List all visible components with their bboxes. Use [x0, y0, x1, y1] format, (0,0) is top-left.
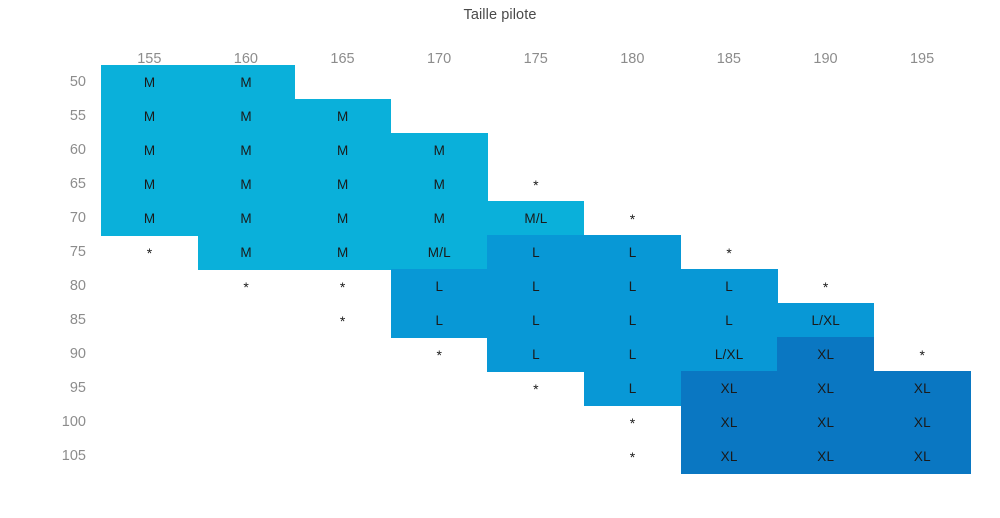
heatmap-cell[interactable]: * — [294, 269, 391, 304]
heatmap-cell[interactable]: * — [198, 269, 295, 304]
cell-value-label: M — [240, 178, 251, 192]
cell-asterisk: * — [630, 450, 636, 464]
heatmap-cell[interactable]: * — [584, 439, 681, 474]
heatmap-cell[interactable]: M — [294, 133, 391, 168]
cell-value-label: M — [337, 246, 348, 260]
heatmap-cell[interactable]: M — [198, 167, 295, 202]
cell-value-label: M/L — [524, 212, 547, 226]
heatmap-cell[interactable]: XL — [874, 439, 971, 474]
cell-value-label: L — [629, 348, 637, 362]
heatmap-cell[interactable]: M — [198, 99, 295, 134]
heatmap-cell[interactable]: M — [294, 167, 391, 202]
cell-asterisk: * — [920, 348, 926, 362]
cell-value-label: L/XL — [715, 348, 744, 362]
cell-value-label: XL — [817, 382, 834, 396]
cell-value-label: XL — [721, 450, 738, 464]
cell-asterisk: * — [340, 314, 346, 328]
cell-value-label: M — [337, 110, 348, 124]
cell-asterisk: * — [823, 280, 829, 294]
heatmap-cell[interactable]: XL — [681, 439, 778, 474]
cell-value-label: M — [240, 76, 251, 90]
cell-asterisk: * — [630, 416, 636, 430]
heatmap-cell[interactable]: XL — [777, 405, 874, 440]
cell-value-label: L — [532, 280, 540, 294]
heatmap-cell[interactable]: L — [681, 303, 778, 338]
heatmap-cell[interactable]: XL — [777, 337, 874, 372]
heatmap-cell[interactable]: * — [874, 337, 971, 372]
heatmap-cell[interactable]: L — [584, 235, 681, 270]
cell-value-label: M — [144, 144, 155, 158]
cell-value-label: L — [629, 280, 637, 294]
heatmap-cell[interactable]: M — [101, 201, 198, 236]
heatmap-cell[interactable]: M/L — [391, 235, 488, 270]
heatmap-cell[interactable]: M — [101, 65, 198, 100]
heatmap-cell[interactable]: XL — [681, 405, 778, 440]
cell-value-label: XL — [817, 450, 834, 464]
cell-value-label: M — [144, 178, 155, 192]
cell-value-label: M — [240, 212, 251, 226]
cell-value-label: L/XL — [811, 314, 840, 328]
heatmap-cell[interactable]: * — [681, 235, 778, 270]
heatmap-cell[interactable]: * — [294, 303, 391, 338]
cell-value-label: L — [725, 280, 733, 294]
cell-asterisk: * — [630, 212, 636, 226]
heatmap-cell[interactable]: M — [391, 167, 488, 202]
heatmap-cell[interactable]: M — [198, 133, 295, 168]
cell-value-label: M — [337, 212, 348, 226]
heatmap-cell[interactable]: M — [101, 133, 198, 168]
heatmap-grid: MMMMMMMMMMMMM*MMMMM/L**MMM/LLL***LLLL**L… — [0, 0, 1000, 518]
cell-value-label: M — [240, 110, 251, 124]
cell-value-label: L — [435, 314, 443, 328]
heatmap-cell[interactable]: XL — [874, 405, 971, 440]
heatmap-cell[interactable]: L — [584, 303, 681, 338]
cell-value-label: M — [337, 144, 348, 158]
cell-asterisk: * — [533, 382, 539, 396]
heatmap-cell[interactable]: L — [487, 303, 584, 338]
cell-value-label: M — [144, 76, 155, 90]
heatmap-cell[interactable]: M — [294, 201, 391, 236]
cell-value-label: XL — [817, 416, 834, 430]
cell-value-label: XL — [817, 348, 834, 362]
heatmap-cell[interactable]: L — [584, 269, 681, 304]
cell-value-label: XL — [914, 382, 931, 396]
heatmap-cell[interactable]: L — [584, 371, 681, 406]
heatmap-cell[interactable]: * — [391, 337, 488, 372]
heatmap-cell[interactable]: * — [487, 167, 584, 202]
cell-value-label: M — [434, 144, 445, 158]
cell-asterisk: * — [726, 246, 732, 260]
cell-asterisk: * — [437, 348, 443, 362]
heatmap-cell[interactable]: L/XL — [681, 337, 778, 372]
heatmap-cell[interactable]: M — [294, 99, 391, 134]
cell-value-label: L — [532, 348, 540, 362]
cell-value-label: M — [434, 178, 445, 192]
cell-value-label: M — [240, 246, 251, 260]
cell-value-label: XL — [721, 416, 738, 430]
heatmap-cell[interactable]: M — [294, 235, 391, 270]
heatmap-cell[interactable]: * — [487, 371, 584, 406]
heatmap-cell[interactable]: * — [101, 235, 198, 270]
heatmap-cell[interactable]: * — [584, 405, 681, 440]
heatmap-cell[interactable]: M — [391, 201, 488, 236]
heatmap-cell[interactable]: M — [198, 65, 295, 100]
cell-asterisk: * — [243, 280, 249, 294]
cell-value-label: L — [629, 246, 637, 260]
heatmap-cell[interactable]: M/L — [487, 201, 584, 236]
cell-asterisk: * — [533, 178, 539, 192]
cell-value-label: L — [435, 280, 443, 294]
cell-value-label: XL — [721, 382, 738, 396]
cell-value-label: L — [725, 314, 733, 328]
cell-value-label: M — [434, 212, 445, 226]
cell-value-label: M/L — [428, 246, 451, 260]
heatmap-cell[interactable]: XL — [874, 371, 971, 406]
heatmap-cell[interactable]: L — [681, 269, 778, 304]
heatmap-cell[interactable]: L — [391, 303, 488, 338]
heatmap-cell[interactable]: L — [487, 337, 584, 372]
heatmap-cell[interactable]: L — [584, 337, 681, 372]
heatmap-cell[interactable]: * — [584, 201, 681, 236]
cell-value-label: L — [532, 246, 540, 260]
heatmap-cell[interactable]: XL — [777, 371, 874, 406]
cell-value-label: XL — [914, 416, 931, 430]
heatmap-cell[interactable]: M — [391, 133, 488, 168]
heatmap-cell[interactable]: XL — [777, 439, 874, 474]
heatmap-cell[interactable]: XL — [681, 371, 778, 406]
cell-value-label: L — [629, 382, 637, 396]
cell-value-label: XL — [914, 450, 931, 464]
heatmap-cell[interactable]: * — [777, 269, 874, 304]
heatmap-cell[interactable]: M — [198, 201, 295, 236]
heatmap-cell[interactable]: L — [487, 269, 584, 304]
cell-asterisk: * — [340, 280, 346, 294]
cell-value-label: M — [240, 144, 251, 158]
heatmap-cell[interactable]: L/XL — [777, 303, 874, 338]
cell-value-label: M — [144, 212, 155, 226]
heatmap-cell[interactable]: L — [391, 269, 488, 304]
heatmap-cell[interactable]: M — [101, 99, 198, 134]
cell-value-label: M — [144, 110, 155, 124]
heatmap-chart: Taille pilote 15516016517017518018519019… — [0, 0, 1000, 518]
cell-value-label: L — [532, 314, 540, 328]
heatmap-cell[interactable]: L — [487, 235, 584, 270]
cell-value-label: L — [629, 314, 637, 328]
cell-asterisk: * — [147, 246, 153, 260]
heatmap-cell[interactable]: M — [198, 235, 295, 270]
cell-value-label: M — [337, 178, 348, 192]
heatmap-cell[interactable]: M — [101, 167, 198, 202]
